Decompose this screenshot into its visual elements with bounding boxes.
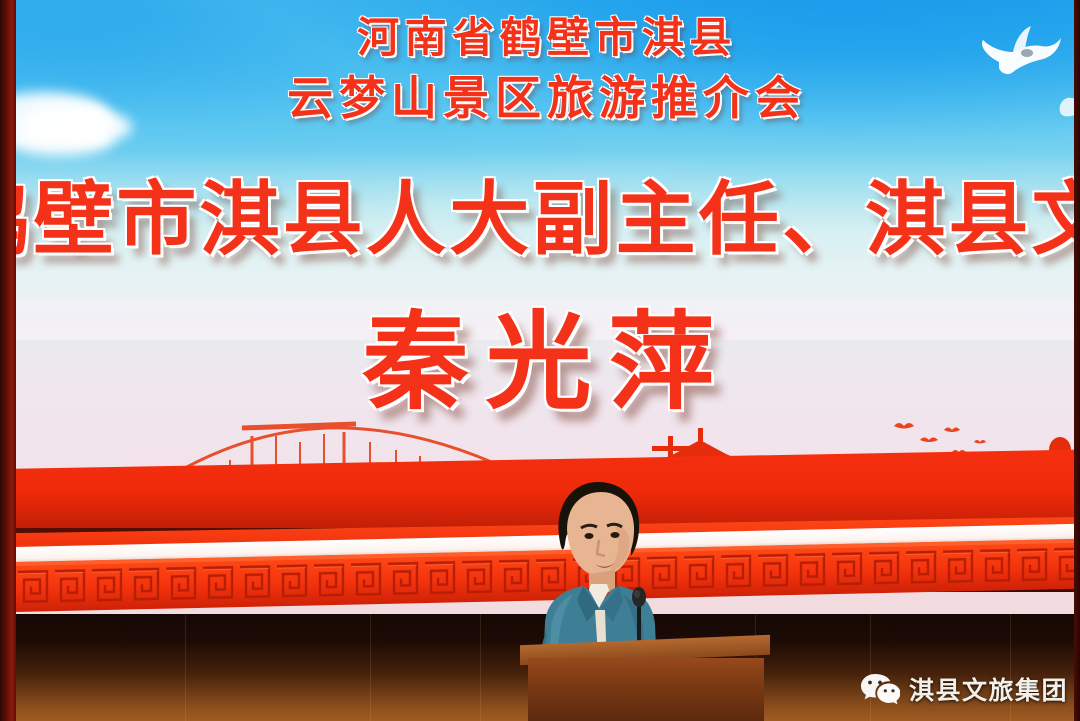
wechat-watermark: 淇县文旅集团	[860, 671, 1068, 707]
wechat-account-name: 淇县文旅集团	[909, 671, 1068, 707]
stage-right-jamb	[1074, 0, 1080, 721]
backdrop-header-line-2: 云梦山景区旅游推介会	[14, 62, 1080, 128]
backdrop-main-title: 鹤壁市淇县人大副主任、淇县文旅工作领导	[14, 155, 1080, 271]
backdrop-header-line-1: 河南省鹤壁市淇县	[14, 4, 1080, 65]
wechat-icon	[860, 672, 900, 706]
podium-body	[528, 658, 764, 721]
stage-left-jamb	[0, 0, 16, 721]
wooden-podium	[520, 640, 770, 721]
screenshot-root: 河南省鹤壁市淇县 云梦山景区旅游推介会 鹤壁市淇县人大副主任、淇县文旅工作领导 …	[0, 0, 1080, 721]
